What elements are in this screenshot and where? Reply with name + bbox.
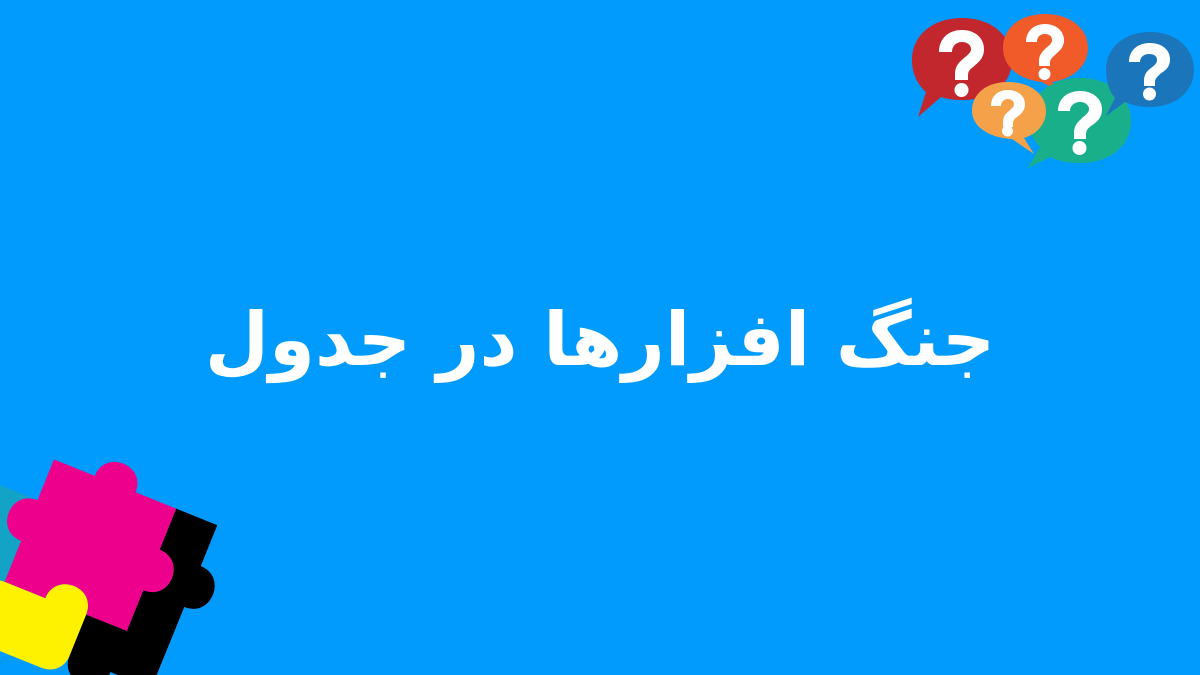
light-orange-bubble xyxy=(972,82,1046,154)
page-title: جنگ افزارها در جدول xyxy=(205,297,995,384)
slide-canvas: جنگ افزارها در جدول xyxy=(0,0,1200,675)
interlocking-puzzle-pieces xyxy=(0,445,260,675)
blue-bubble xyxy=(1106,32,1194,116)
question-mark-speech-bubbles xyxy=(900,0,1200,190)
